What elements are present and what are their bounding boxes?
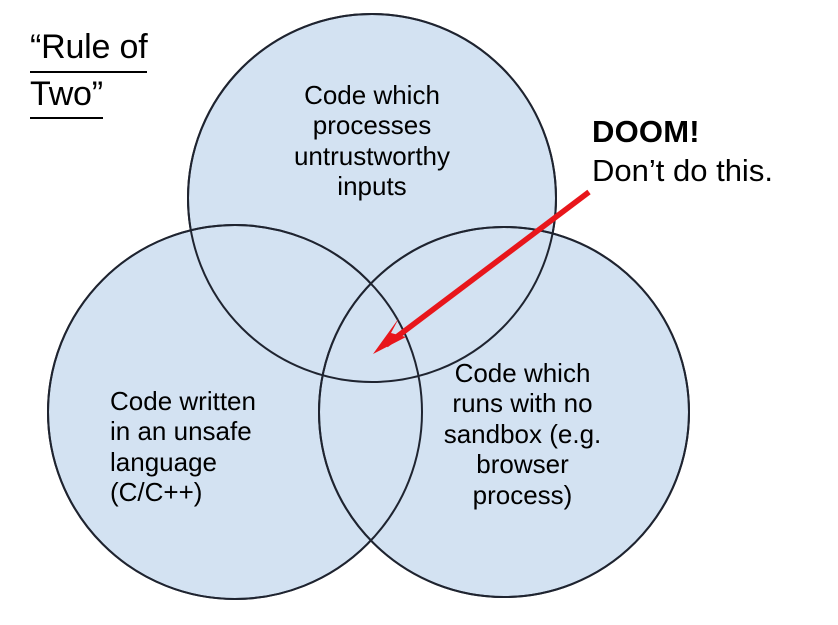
doom-callout-heading: DOOM!: [592, 114, 836, 151]
venn-label-unsafe-language: Code written in an unsafe language (C/C+…: [110, 386, 338, 508]
slide-canvas: “Rule ofTwo” Code which processes untrus…: [0, 0, 838, 625]
doom-callout: DOOM! Don’t do this.: [592, 114, 836, 189]
venn-label-no-sandbox: Code which runs with no sandbox (e.g. br…: [404, 358, 641, 510]
venn-label-untrusted-input: Code which processes untrustworthy input…: [241, 80, 503, 202]
doom-callout-subtext: Don’t do this.: [592, 153, 836, 190]
